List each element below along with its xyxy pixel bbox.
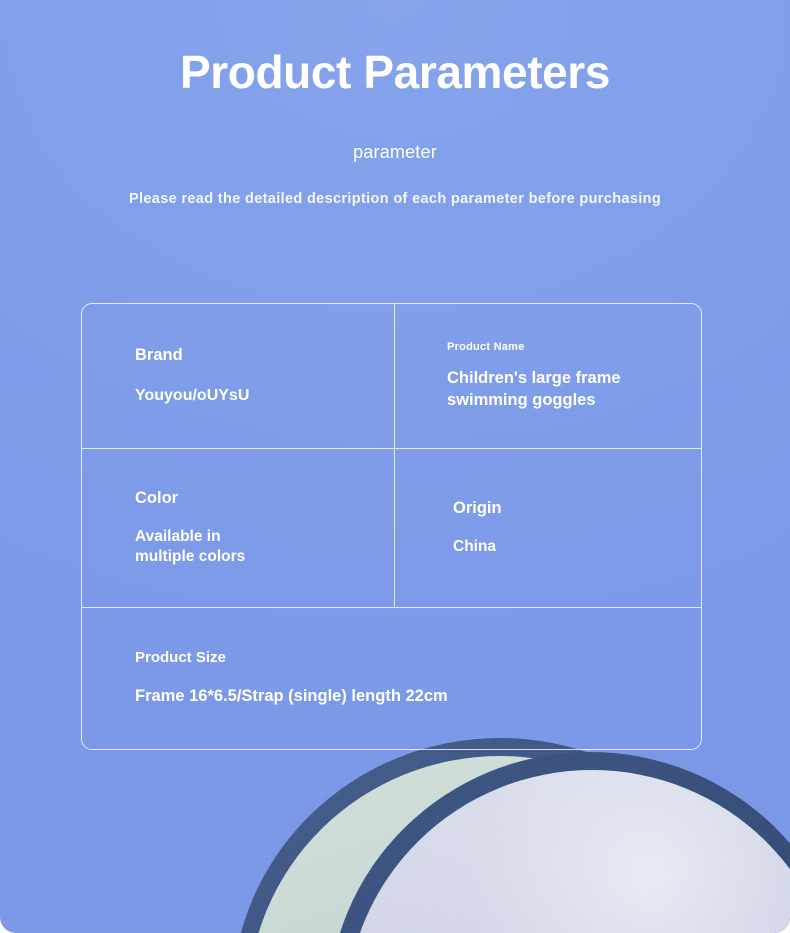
page-title: Product Parameters: [0, 0, 790, 98]
spec-value-brand: Youyou/oUYsU: [135, 386, 394, 406]
spec-label-color: Color: [135, 489, 394, 509]
spec-value-product-name: Children's large frame swimming goggles: [447, 368, 652, 410]
subtitle: parameter: [0, 98, 790, 163]
subtitle-note: Please read the detailed description of …: [0, 163, 790, 207]
product-parameters-card: Product Parameters parameter Please read…: [0, 0, 790, 933]
spec-cell-product-size: Product Size Frame 16*6.5/Strap (single)…: [82, 608, 701, 749]
spec-table: Brand Youyou/oUYsU Product Name Children…: [81, 303, 702, 750]
spec-label-product-name: Product Name: [447, 341, 701, 354]
table-row: Color Available in multiple colors Origi…: [82, 448, 701, 607]
spec-label-origin: Origin: [453, 499, 701, 519]
spec-cell-product-name: Product Name Children's large frame swim…: [394, 304, 701, 448]
spec-label-product-size: Product Size: [135, 649, 701, 667]
spec-value-color: Available in multiple colors: [135, 527, 275, 567]
spec-value-product-size: Frame 16*6.5/Strap (single) length 22cm: [135, 686, 701, 707]
table-row: Product Size Frame 16*6.5/Strap (single)…: [82, 607, 701, 749]
table-row: Brand Youyou/oUYsU Product Name Children…: [82, 304, 701, 448]
spec-cell-color: Color Available in multiple colors: [82, 449, 394, 607]
spec-cell-origin: Origin China: [394, 449, 701, 607]
spec-label-brand: Brand: [135, 346, 394, 366]
spec-cell-brand: Brand Youyou/oUYsU: [82, 304, 394, 448]
spec-value-origin: China: [453, 537, 701, 557]
card-header: Product Parameters parameter Please read…: [0, 0, 790, 207]
